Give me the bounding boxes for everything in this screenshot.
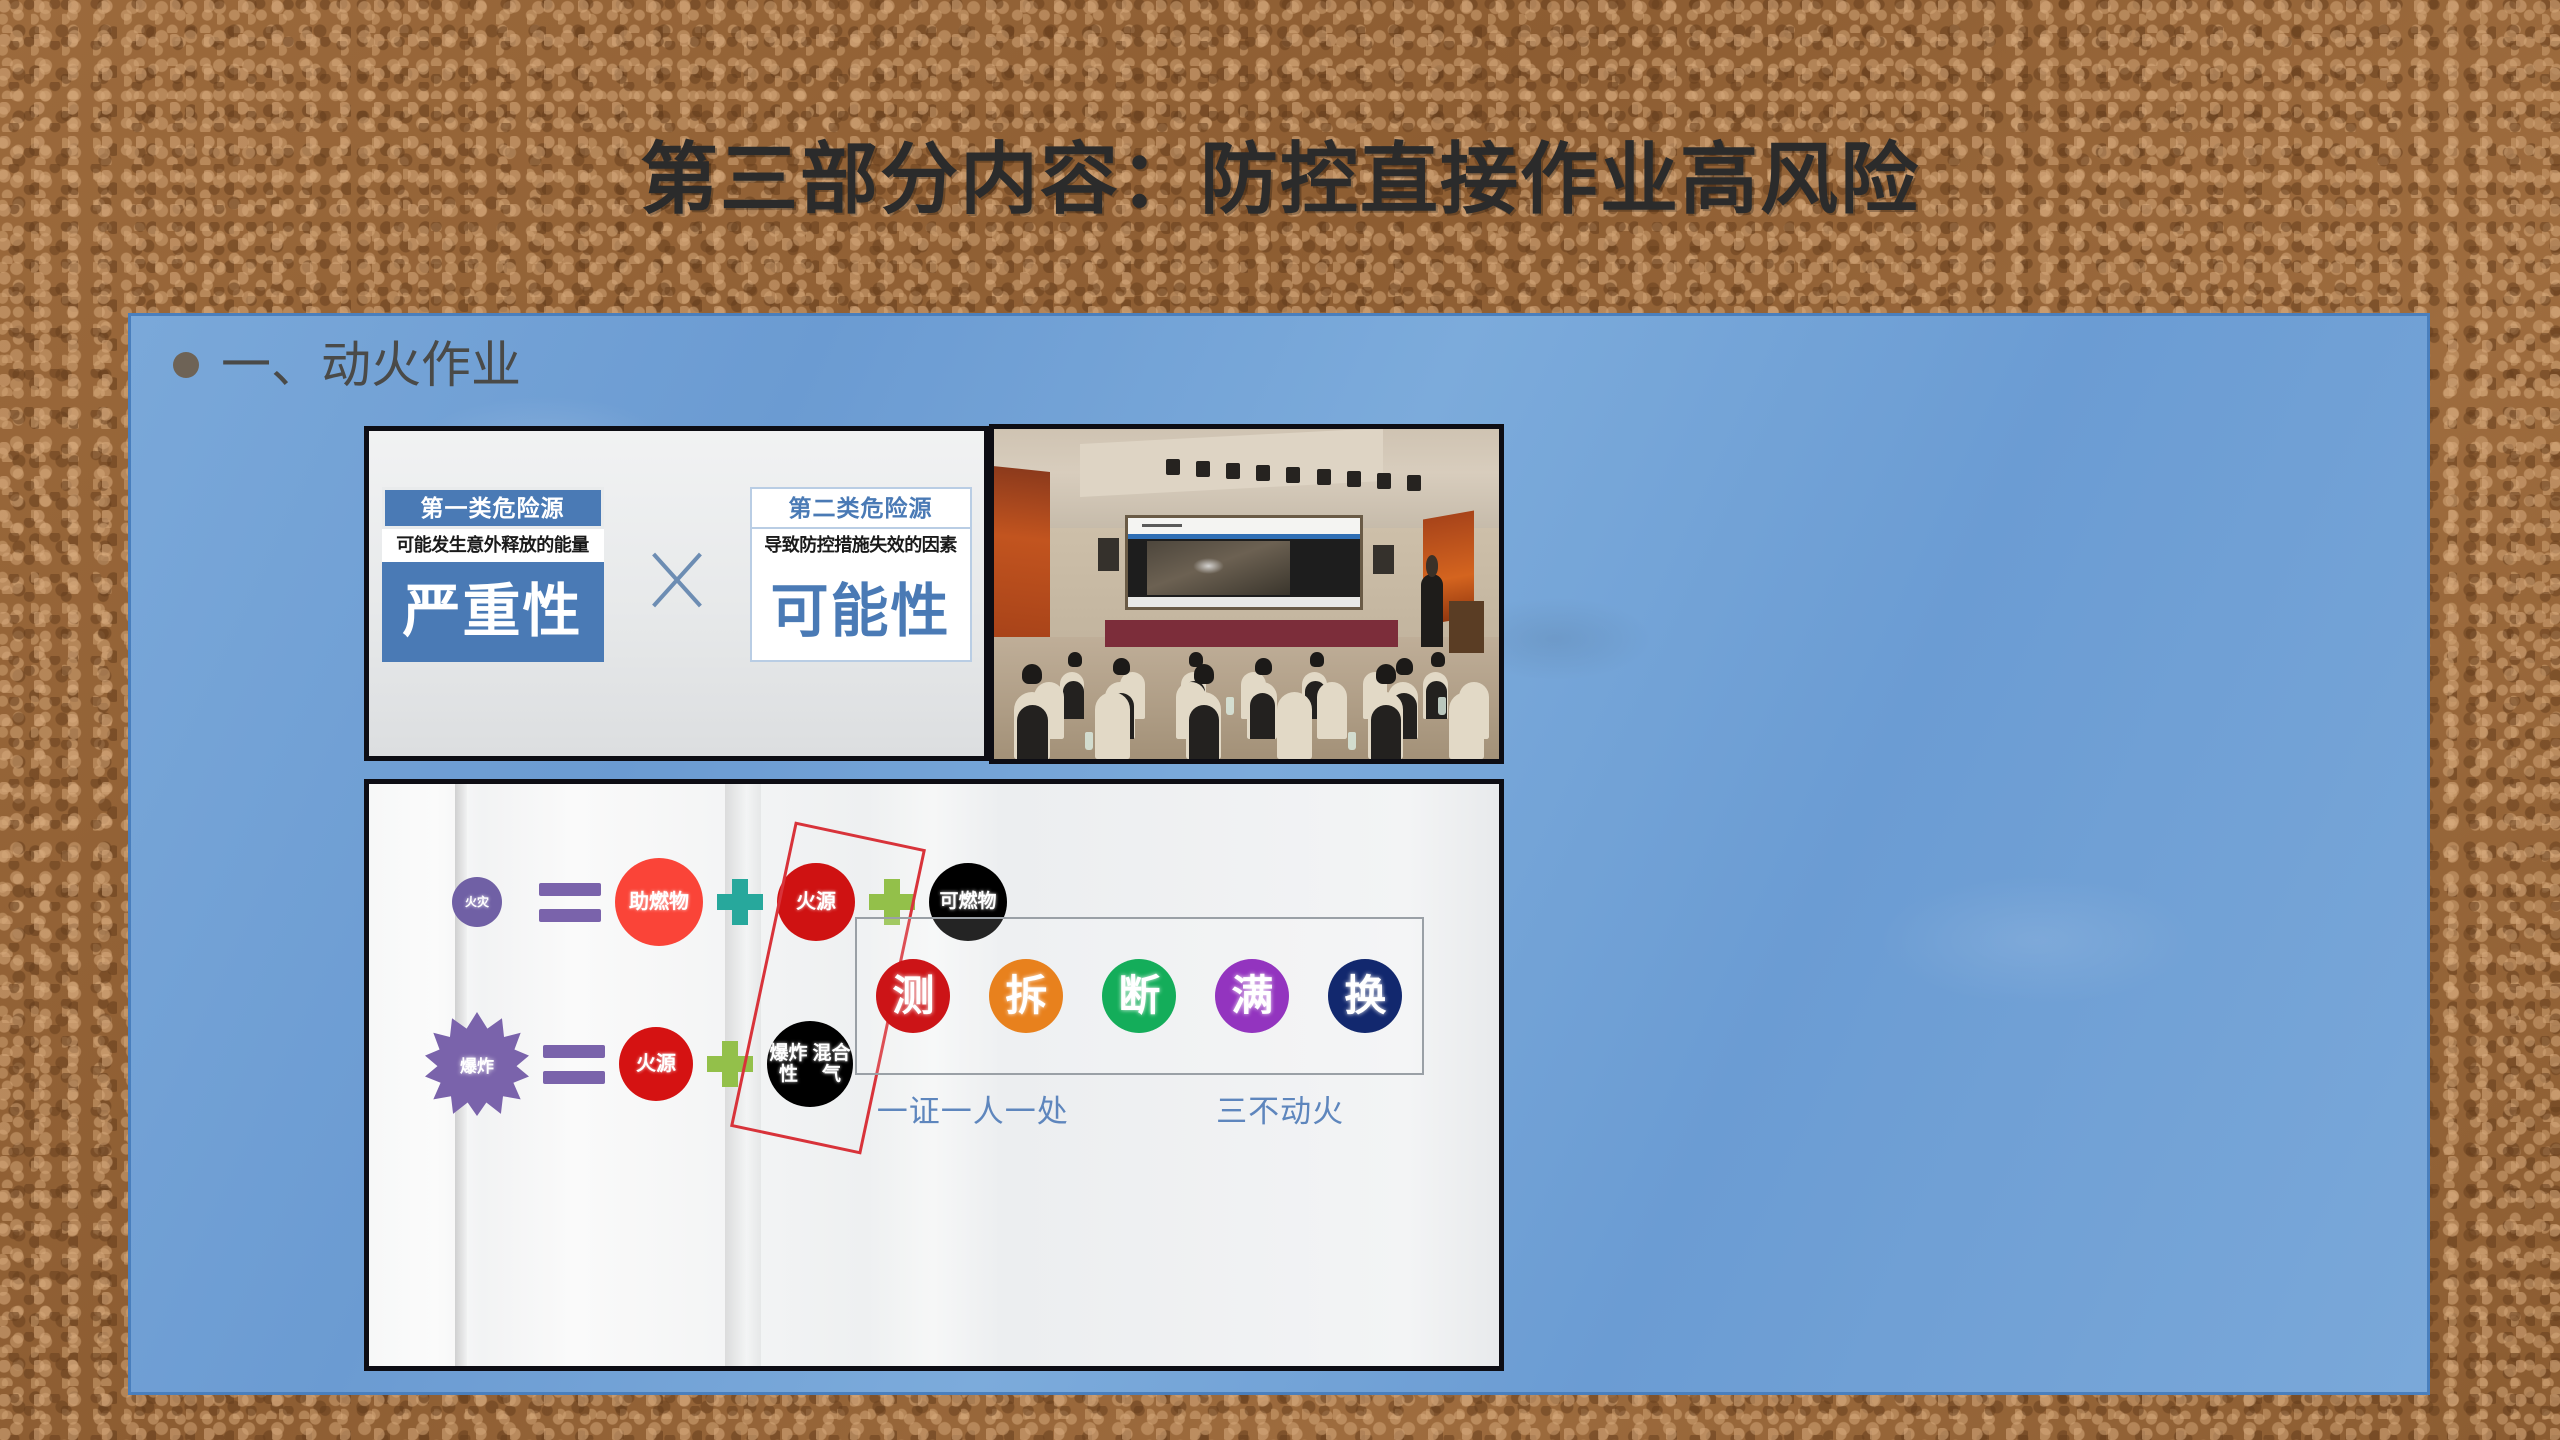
photo-projection-screen	[1125, 515, 1362, 611]
circles-caption-row: 一证一人一处 三不动火	[866, 1086, 1397, 1131]
photo-attendee-head	[1376, 664, 1396, 685]
photo-screen-slide-header	[1128, 518, 1359, 534]
photo-screen-toolbar	[1128, 534, 1359, 539]
photo-chair	[1095, 692, 1130, 759]
photo-attendee-head	[1022, 664, 1042, 685]
photo-speaker-left-icon	[1098, 538, 1119, 571]
photo-attendee-head	[1194, 664, 1214, 685]
photo-screen-video	[1147, 541, 1290, 595]
hazard-class-1-keyword: 严重性	[382, 562, 604, 662]
hazard-class-1-card: 第一类危险源 可能发生意外释放的能量 严重性	[382, 487, 604, 662]
diagram-content: 第一类危险源 可能发生意外释放的能量 严重性 第二类危险源 导致防控措施失效的因…	[369, 487, 984, 662]
permit-circle-1: 测	[876, 959, 950, 1033]
photo-attendee-head	[1255, 658, 1272, 676]
photo-attendee-body	[1250, 693, 1276, 739]
fire-sun-icon: 火灾	[429, 854, 525, 950]
hazard-class-2-header: 第二类危险源	[750, 487, 972, 529]
permit-circle-4: 满	[1215, 959, 1289, 1033]
oxidizer-term: 助燃物	[615, 858, 703, 946]
photo-spot-light-icon	[1166, 459, 1180, 475]
hazard-source-diagram-image: 第一类危险源 可能发生意外释放的能量 严重性 第二类危险源 导致防控措施失效的因…	[364, 426, 989, 761]
photo-chair	[1449, 692, 1484, 759]
photo-water-bottle	[1348, 732, 1356, 749]
photo-scene	[994, 429, 1499, 759]
page-title: 第三部分内容：防控直接作业高风险	[0, 140, 2560, 218]
photo-spot-light-icon	[1317, 469, 1331, 485]
circles-container: 测拆断满换	[855, 917, 1424, 1075]
bullet-label: 一、动火作业	[221, 340, 521, 390]
photo-chair	[1317, 682, 1347, 739]
photo-chair	[1277, 692, 1312, 759]
bullet-item: 一、动火作业	[173, 340, 521, 390]
photo-attendee-head	[1068, 652, 1082, 666]
photo-water-bottle	[1226, 697, 1234, 714]
photo-attendee-head	[1431, 652, 1445, 666]
hazard-class-2-subtitle: 导致防控措施失效的因素	[750, 529, 972, 562]
photo-spot-light-icon	[1196, 461, 1210, 477]
photo-attendee-head	[1113, 658, 1130, 676]
equals-sign-icon	[539, 883, 601, 922]
plus-sign-icon	[717, 879, 763, 925]
photo-spot-light-icon	[1256, 465, 1270, 481]
photo-spot-light-icon	[1226, 463, 1240, 479]
photo-spot-light-icon	[1377, 473, 1391, 489]
fire-permit-circles-panel: 测拆断满换 一证一人一处 三不动火	[855, 848, 1420, 1232]
photo-attendee-head	[1396, 658, 1413, 676]
permit-circle-3: 断	[1102, 959, 1176, 1033]
fire-result-label: 火灾	[452, 877, 502, 927]
slide: 第三部分内容：防控直接作业高风险 一、动火作业 第一类危险源 可能发生意外释放的…	[0, 0, 2560, 1440]
equals-sign-icon	[543, 1045, 605, 1084]
permit-circle-5: 换	[1328, 959, 1402, 1033]
photo-attendee-body	[1063, 681, 1084, 719]
photo-attendee-body	[1371, 705, 1401, 759]
hazard-class-2-keyword: 可能性	[750, 562, 972, 662]
permit-circle-2: 拆	[989, 959, 1063, 1033]
multiply-operator-icon	[642, 545, 712, 615]
training-room-photo	[989, 424, 1504, 764]
caption-three-no-fire: 三不动火	[1216, 1086, 1344, 1131]
hazard-class-1-header: 第一类危险源	[382, 487, 604, 529]
content-panel: 一、动火作业 第一类危险源 可能发生意外释放的能量 严重性 第二类危险源 导致防…	[128, 313, 2430, 1395]
hazard-class-2-card: 第二类危险源 导致防控措施失效的因素 可能性	[750, 487, 972, 662]
photo-attendee-head	[1310, 652, 1324, 666]
photo-attendee-body	[1017, 705, 1047, 759]
photo-attendee-body	[1189, 705, 1219, 759]
photo-spot-light-icon	[1347, 471, 1361, 487]
ignition-source-term: 火源	[619, 1027, 693, 1101]
caption-one-permit: 一证一人一处	[877, 1086, 1069, 1131]
hazard-class-1-subtitle: 可能发生意外释放的能量	[382, 529, 604, 562]
photo-ceiling-lights	[1166, 459, 1429, 492]
fire-prevention-book-image: 火灾 助燃物 火源 可燃物 爆炸 火源 爆炸性混合气 测拆断满	[364, 779, 1504, 1371]
photo-spot-light-icon	[1286, 467, 1300, 483]
photo-water-bottle	[1438, 697, 1446, 714]
photo-audience	[994, 601, 1499, 759]
photo-spot-light-icon	[1407, 475, 1421, 491]
photo-speaker-right-icon	[1373, 545, 1394, 575]
photo-water-bottle	[1085, 732, 1093, 749]
explosion-star-icon: 爆炸	[425, 1012, 529, 1116]
photo-screen-smoke	[1193, 558, 1225, 574]
bullet-dot-icon	[173, 352, 199, 378]
